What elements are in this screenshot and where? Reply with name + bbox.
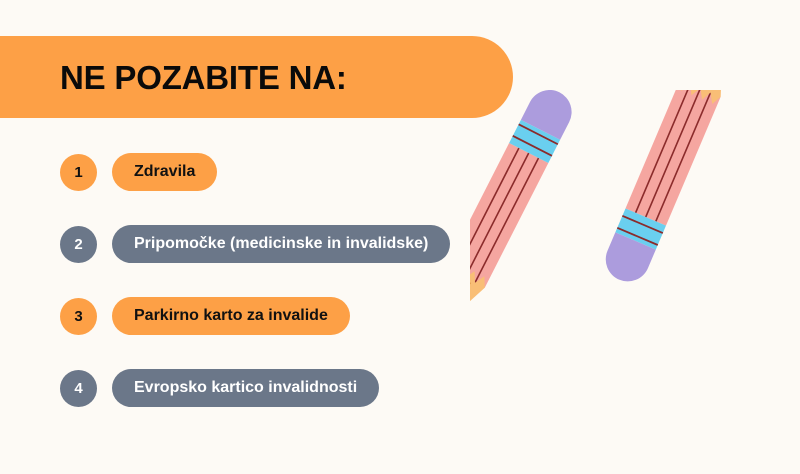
list-item[interactable]: 1 Zdravila [60,152,500,192]
checklist: 1 Zdravila 2 Pripomočke (medicinske in i… [60,152,500,440]
list-item[interactable]: 3 Parkirno karto za invalide [60,296,500,336]
list-item-pill[interactable]: Zdravila [112,153,217,191]
pencils-icon [470,90,800,450]
list-item-number-badge: 2 [60,226,97,263]
list-item-pill[interactable]: Parkirno karto za invalide [112,297,350,335]
list-item-number-badge: 3 [60,298,97,335]
header-banner: NE POZABITE NA: [0,36,513,118]
poster-canvas: NE POZABITE NA: 1 Zdravila 2 Pripomočke … [0,0,800,474]
list-item-number-badge: 4 [60,370,97,407]
pencils-illustration [470,90,800,450]
list-item[interactable]: 2 Pripomočke (medicinske in invalidske) [60,224,500,264]
list-item-number-badge: 1 [60,154,97,191]
list-item[interactable]: 4 Evropsko kartico invalidnosti [60,368,500,408]
list-item-pill[interactable]: Pripomočke (medicinske in invalidske) [112,225,450,263]
list-item-pill[interactable]: Evropsko kartico invalidnosti [112,369,379,407]
page-title: NE POZABITE NA: [60,61,347,94]
